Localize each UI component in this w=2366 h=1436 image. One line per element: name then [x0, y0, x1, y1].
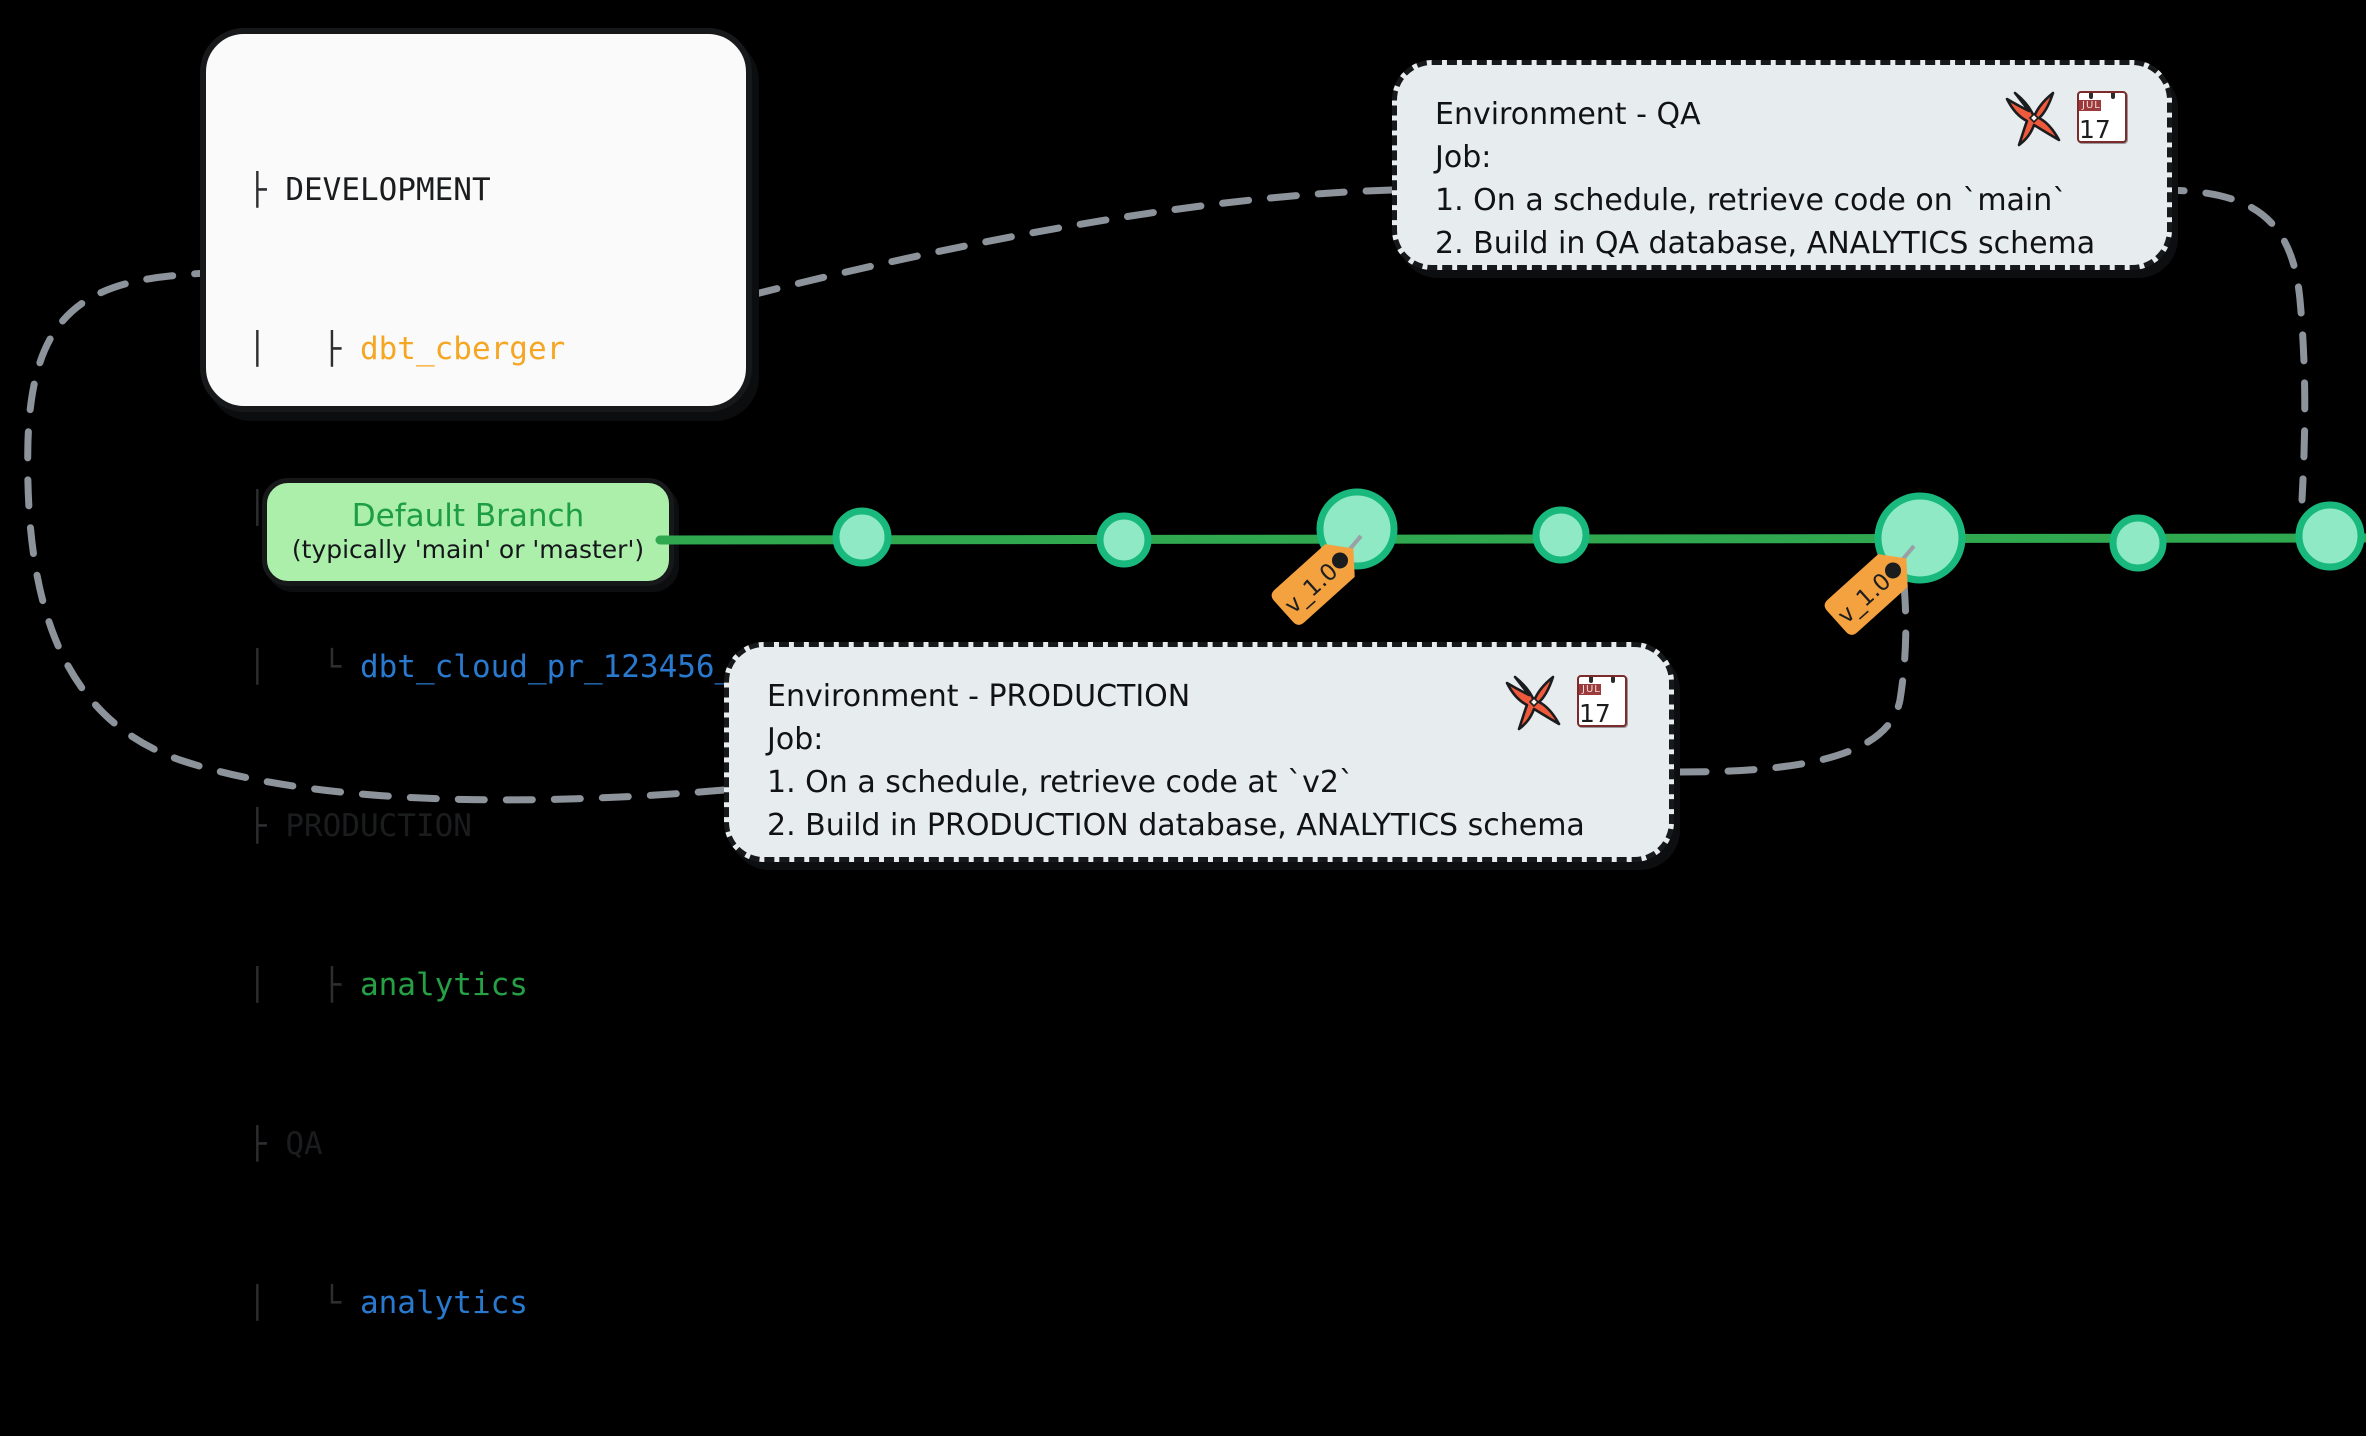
tree-label-qa-analytics[interactable]: analytics — [360, 1285, 528, 1321]
tree-guide: │ ├ — [248, 967, 360, 1003]
commit-dot[interactable] — [2299, 505, 2361, 567]
commit-dot[interactable] — [1536, 510, 1586, 560]
version-tag[interactable]: v_1.0 — [1269, 532, 1368, 628]
commit-dot[interactable] — [1100, 516, 1148, 564]
tree-row: │ ├ analytics — [248, 959, 752, 1012]
tree-label-production-analytics[interactable]: analytics — [360, 967, 528, 1003]
commit-dot[interactable] — [836, 511, 888, 563]
tree-guide: ├ — [248, 1126, 285, 1162]
tree-row: ├ QA — [248, 1118, 752, 1171]
version-tag[interactable]: v_1.0 — [1822, 542, 1921, 638]
diagram-canvas: ├ DEVELOPMENT │ ├ dbt_cberger │ ├ dbt_co… — [0, 0, 2366, 888]
commit-dot[interactable] — [2113, 518, 2163, 568]
tree-label-qa: QA — [285, 1126, 322, 1162]
timeline-layer: v_1.0v_1.0 — [0, 0, 2366, 888]
tree-row: │ └ analytics — [248, 1277, 752, 1330]
tree-guide: │ └ — [248, 1285, 360, 1321]
